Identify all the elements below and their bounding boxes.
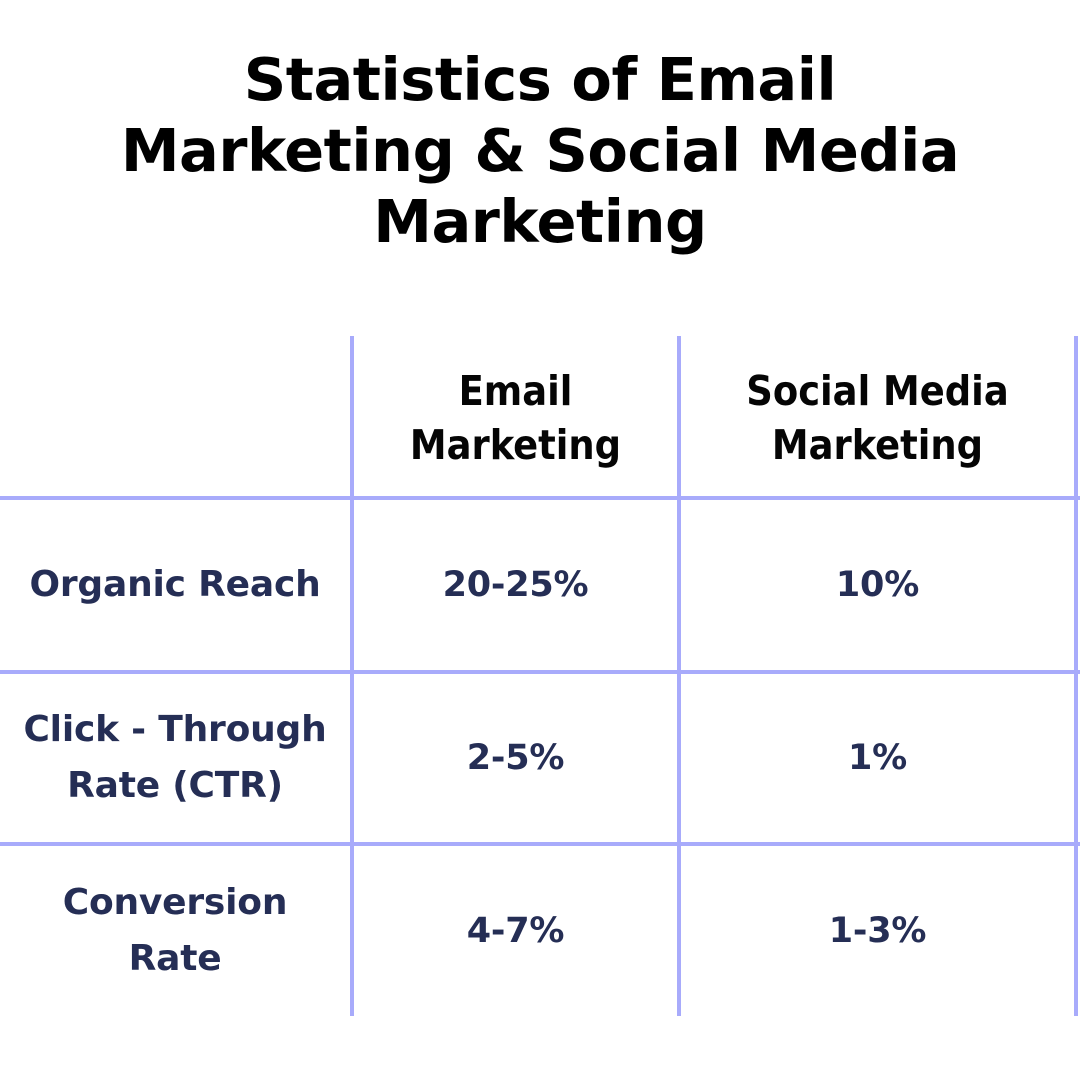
table-header-cell-social-media-marketing: Social Media Marketing	[681, 340, 1074, 496]
table-header-cell-email-marketing: Email Marketing	[354, 340, 677, 496]
table-row: Conversion Rate	[0, 846, 350, 1016]
value-conversion-social: 1-3%	[829, 909, 927, 953]
row-label-click-through-rate: Click - Through Rate (CTR)	[23, 702, 326, 814]
table-row: Organic Reach	[0, 500, 350, 670]
value-organic-reach-email: 20-25%	[443, 563, 589, 607]
value-ctr-email: 2-5%	[467, 736, 565, 780]
table-cell-organic-reach-email: 20-25%	[354, 500, 677, 670]
table-row: Click - Through Rate (CTR)	[0, 674, 350, 842]
table-cell-ctr-social: 1%	[681, 674, 1074, 842]
table-cell-conversion-social: 1-3%	[681, 846, 1074, 1016]
row-label-conversion-rate: Conversion Rate	[63, 875, 288, 987]
table-cell-conversion-email: 4-7%	[354, 846, 677, 1016]
table-header-label-email-marketing: Email Marketing	[410, 364, 621, 472]
table-header-label-social-media-marketing: Social Media Marketing	[746, 364, 1008, 472]
row-label-organic-reach: Organic Reach	[29, 557, 320, 613]
statistics-table: Email Marketing Social Media Marketing O…	[0, 0, 1080, 1080]
value-organic-reach-social: 10%	[836, 563, 919, 607]
table-cell-ctr-email: 2-5%	[354, 674, 677, 842]
table-right-border	[1074, 336, 1078, 1016]
table-cell-organic-reach-social: 10%	[681, 500, 1074, 670]
infographic-canvas: Statistics of Email Marketing & Social M…	[0, 0, 1080, 1080]
value-ctr-social: 1%	[848, 736, 907, 780]
value-conversion-email: 4-7%	[467, 909, 565, 953]
table-header-cell-corner	[0, 340, 350, 496]
